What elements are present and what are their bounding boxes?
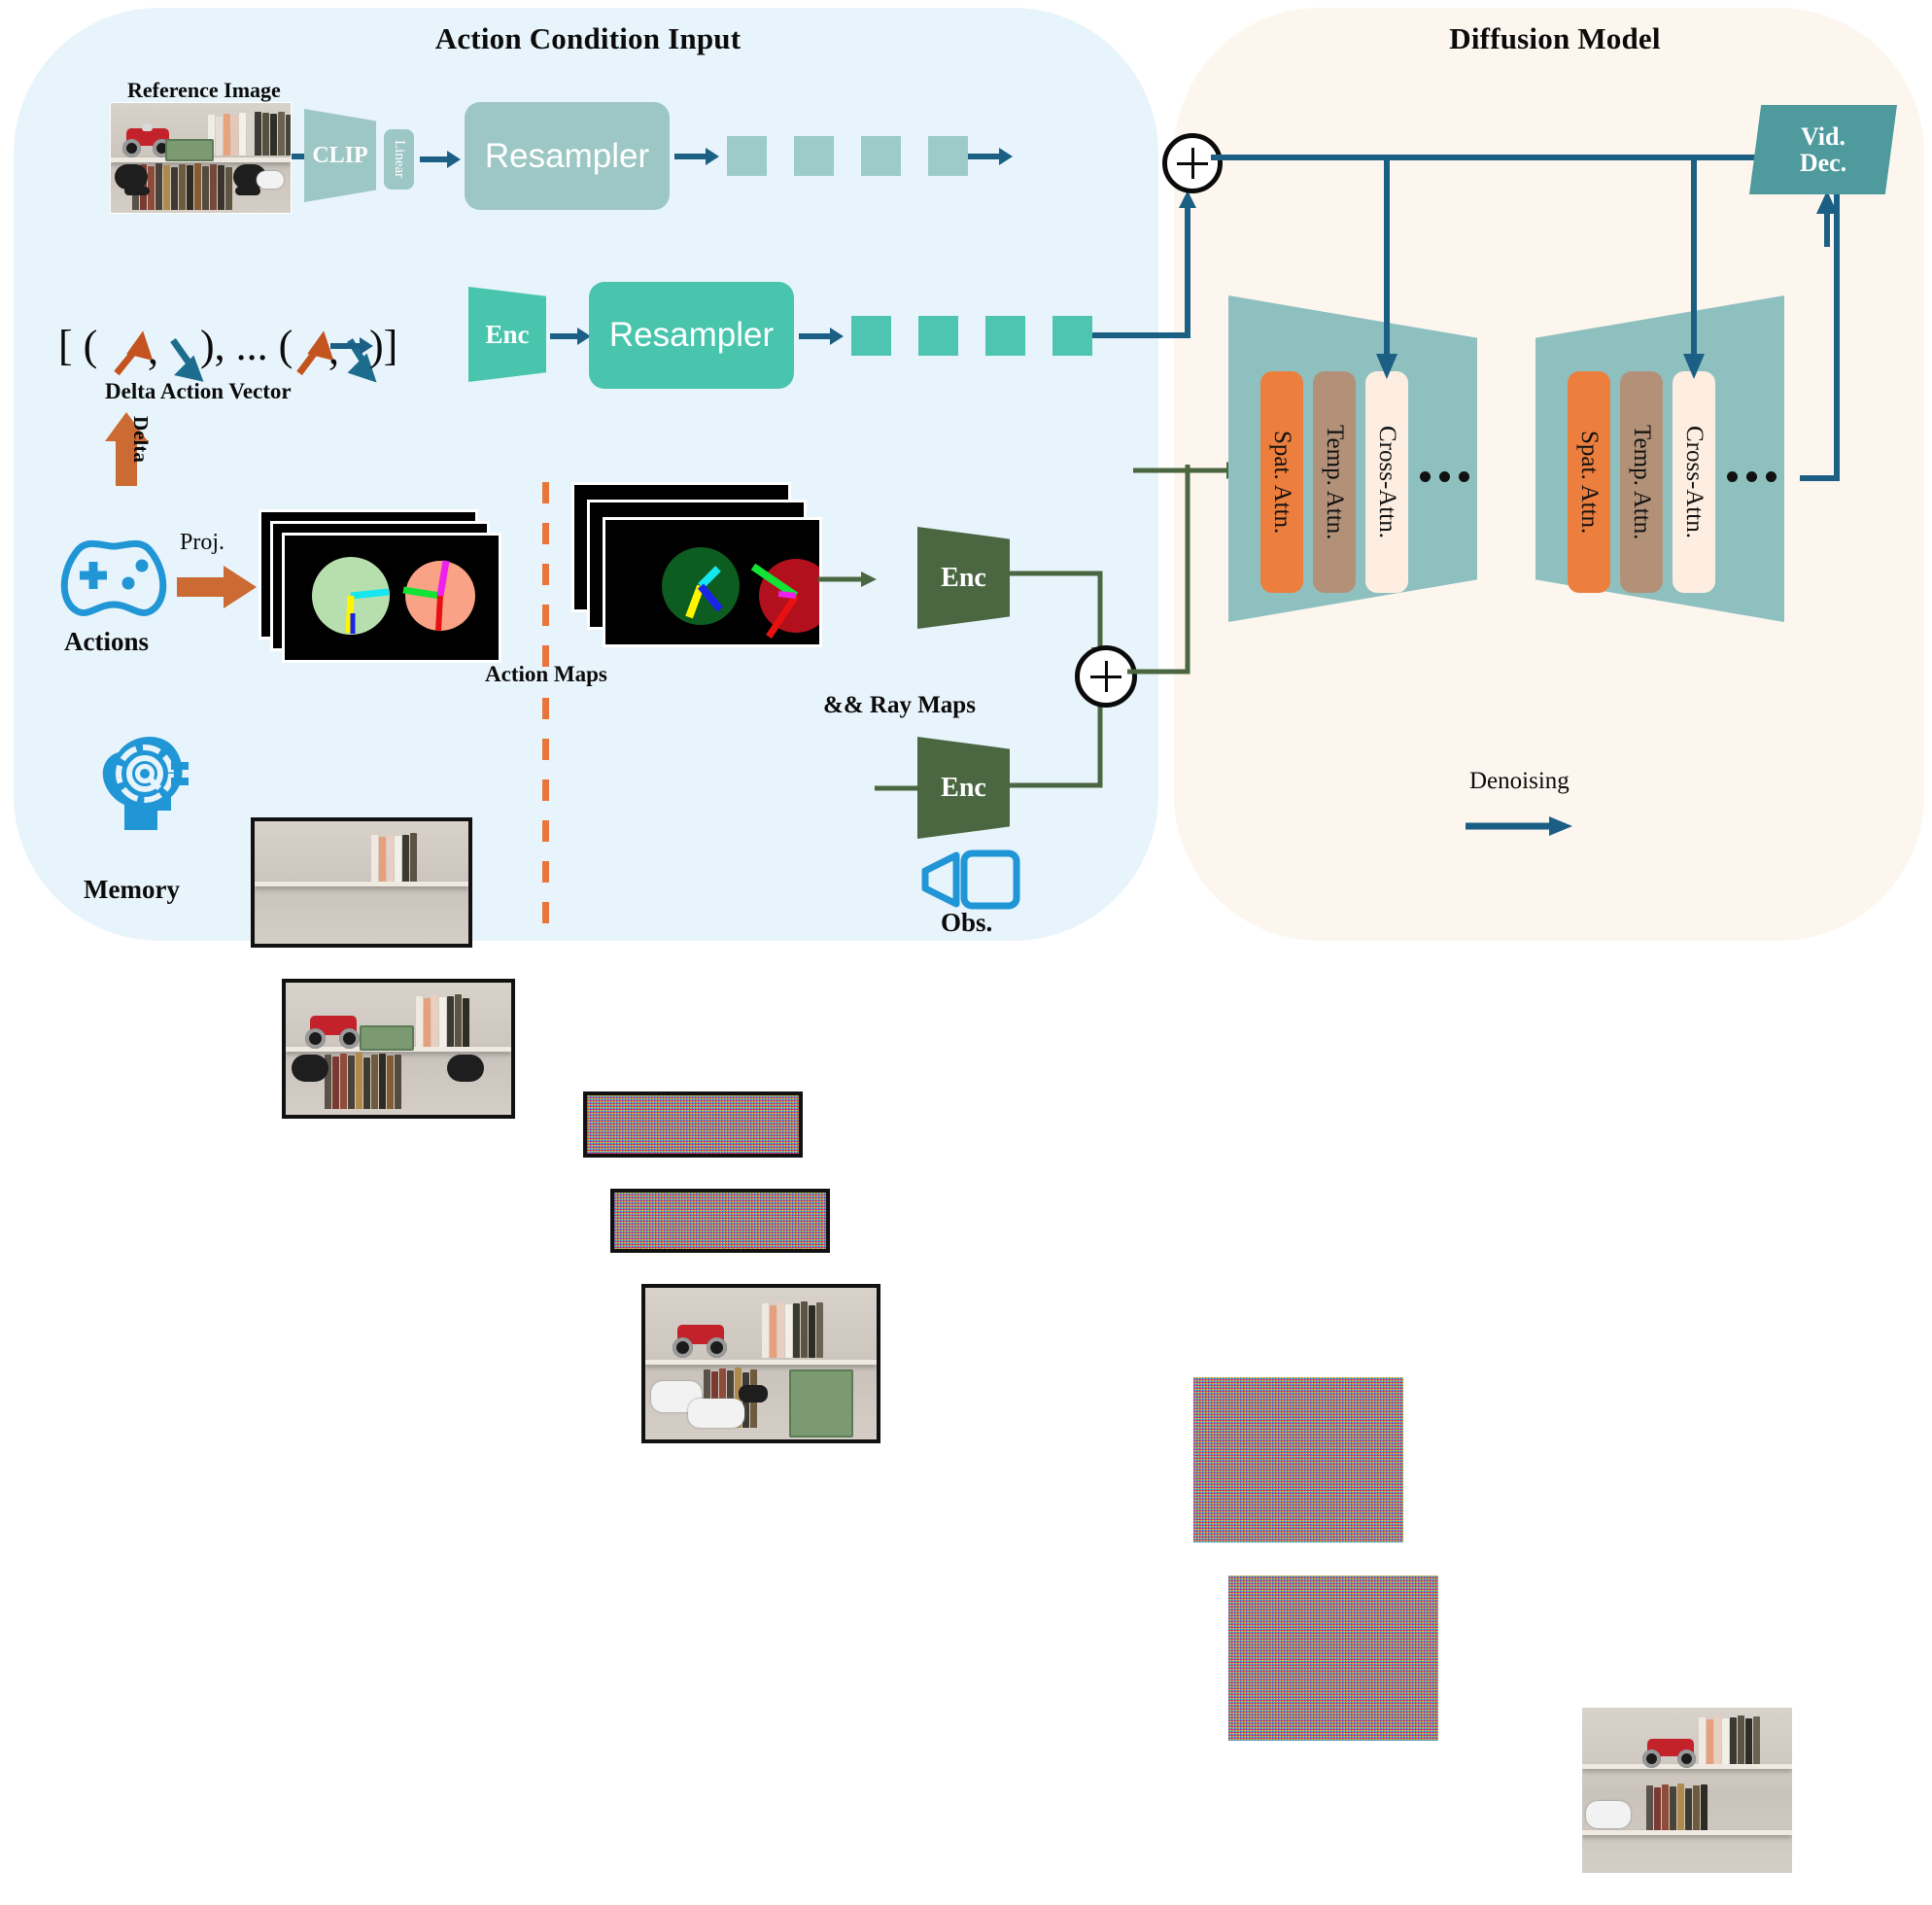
reference-image-photo [110,102,292,214]
ray-maps-label: && Ray Maps [823,692,976,719]
image-token [727,136,767,176]
temp-attn-block-1[interactable]: Temp. Attn. [1313,371,1356,593]
clip-encoder-block[interactable]: CLIP [304,109,376,202]
memory-frame-front [282,979,515,1119]
delta-action-vector-label: Delta Action Vector [105,379,292,404]
panel-title-action-condition-input: Action Condition Input [253,21,923,56]
vid-dec-label-line1: Vid. [1801,123,1846,150]
arrow-action-tokens-to-sum [1092,185,1219,340]
spat-attn-label-1: Spat. Attn. [1268,431,1295,534]
arrow-vector-to-enc [330,335,373,357]
video-decoder-block[interactable]: Vid. Dec. [1749,105,1897,194]
action-token [918,316,958,356]
arrow-enc-to-resampler-action [550,326,591,347]
image-token [794,136,834,176]
obs-enc-label: Enc [941,773,986,804]
unet-skip-link [1444,470,1736,486]
image-token [928,136,968,176]
svg-text:)]: )] [369,322,397,369]
maps-enc-block[interactable]: Enc [917,527,1010,629]
resampler-action-block[interactable]: Resampler [589,282,794,389]
arrow-resampler-to-tokens-action [799,326,844,347]
denoise-input-frame-front [1228,1576,1438,1741]
resampler-image-block[interactable]: Resampler [465,102,670,210]
noisy-obs-frame-front [641,1284,880,1443]
noisy-obs-frame-mid [610,1189,830,1253]
denoising-arrow [1466,814,1572,838]
denoise-input-frame-back [1193,1377,1403,1542]
delta-arrow-label: Delta [128,416,153,463]
ray-map-frame-front [603,517,822,647]
noisy-obs-frame-back [583,1091,803,1158]
action-enc-block[interactable]: Enc [468,287,546,382]
svg-text:[ (: [ ( [58,322,97,369]
divider-bottom [542,698,549,931]
vid-dec-label-line2: Dec. [1800,150,1846,176]
arrow-raymaps-to-enc [818,569,877,590]
arrow-into-viddec [1813,190,1843,249]
action-enc-label: Enc [485,320,529,350]
obs-label: Obs. [941,908,992,938]
action-token [985,316,1025,356]
actions-label: Actions [64,627,149,657]
panel-title-diffusion-model: Diffusion Model [1254,21,1856,56]
arrow-resampler-to-tokens-image [674,146,719,167]
arrow-sum-to-unet1 [1127,457,1236,680]
action-map-frame-front [282,533,501,663]
cross-attn-label-1: Cross-Attn. [1373,426,1400,538]
arrow-linear-to-resampler [420,149,461,170]
image-token [861,136,901,176]
divider-top [542,482,549,667]
memory-label: Memory [84,875,180,905]
denoise-output-frame-back [1582,1708,1792,1873]
memory-head-icon [89,727,190,834]
video-camera-icon [919,851,1020,908]
reference-image-label: Reference Image [127,78,281,103]
memory-frame-back [251,817,472,948]
linear-block[interactable]: Linear [384,129,414,190]
obs-enc-block[interactable]: Enc [917,737,1010,839]
cross-attn-block-1[interactable]: Cross-Attn. [1365,371,1408,593]
action-token [851,316,891,356]
denoising-label: Denoising [1469,768,1570,795]
linear-label: Linear [391,140,407,178]
resampler-action-label: Resampler [609,316,774,355]
svg-text:,: , [148,326,158,373]
action-token [1052,316,1092,356]
temp-attn-label-1: Temp. Attn. [1321,425,1348,539]
spat-attn-block-1[interactable]: Spat. Attn. [1260,371,1303,593]
gamepad-icon [56,537,171,624]
arrow-image-tokens-to-sum [968,146,1013,167]
clip-label: CLIP [312,143,367,169]
proj-label: Proj. [180,530,224,556]
resampler-image-label: Resampler [485,137,649,176]
svg-text:), ... (: ), ... ( [200,322,293,369]
proj-arrow [177,566,257,608]
arrow-unet2-to-viddec [1749,190,1876,482]
maps-enc-label: Enc [941,563,986,594]
